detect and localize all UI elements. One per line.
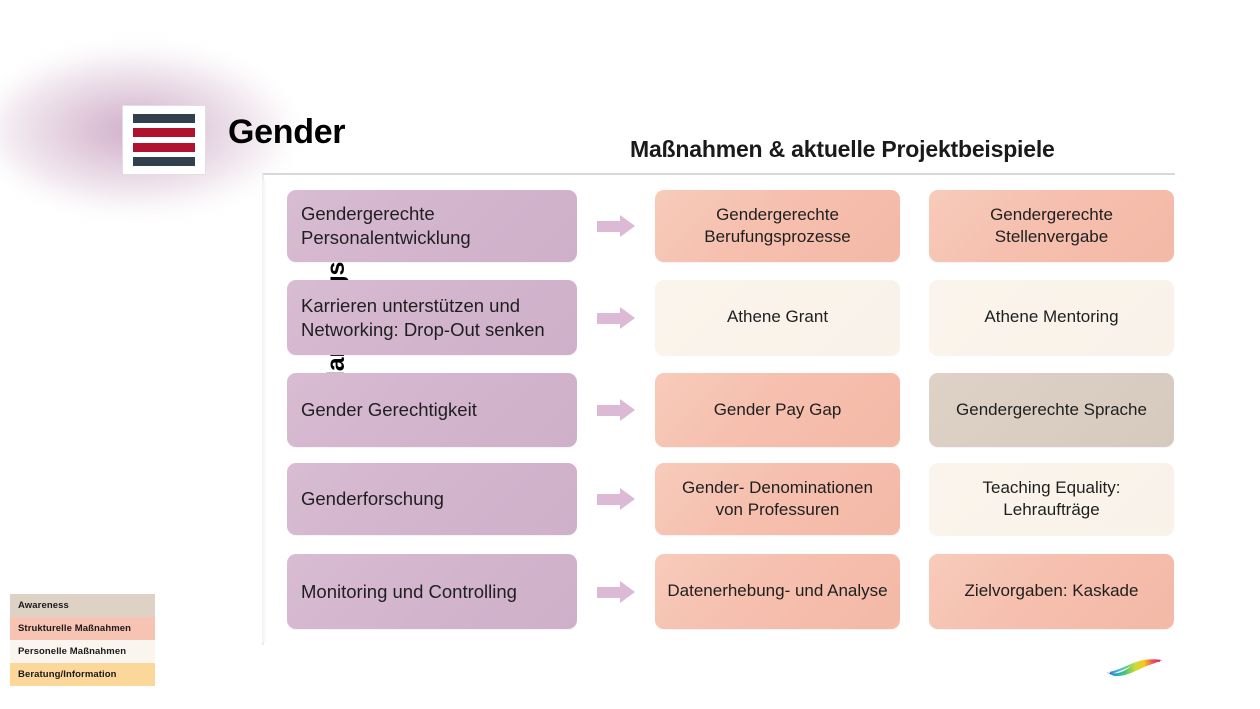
logo-bar-1 [133, 114, 195, 123]
handlungsfeld-box[interactable]: Gender Gerechtigkeit [287, 373, 577, 447]
handlungsfeld-label: Monitoring und Controlling [301, 580, 517, 604]
arrow-shaft [597, 587, 621, 598]
handlungsfeld-label: Karrieren unterstützen und Networking: D… [301, 294, 563, 341]
handlungsfeld-box[interactable]: Karrieren unterstützen und Networking: D… [287, 280, 577, 355]
arrow-head [620, 399, 635, 421]
measure-box[interactable]: Athene Mentoring [929, 280, 1174, 355]
legend-item: Personelle Maßnahmen [10, 640, 155, 663]
handlungsfeld-label: Gendergerechte Personalentwicklung [301, 202, 563, 249]
arrow-shaft [597, 405, 621, 416]
arrow-cell [577, 373, 655, 447]
column-gap [900, 280, 929, 355]
column-gap [900, 554, 929, 629]
arrow-cell [577, 463, 655, 535]
column-gap [900, 463, 929, 535]
measure-box[interactable]: Gendergerechte Stellenvergabe [929, 190, 1174, 262]
matrix-row: Karrieren unterstützen und Networking: D… [287, 280, 1175, 355]
matrix-row: Gendergerechte PersonalentwicklungGender… [287, 190, 1175, 262]
measure-label: Gendergerechte Berufungsprozesse [667, 204, 888, 248]
measure-box[interactable]: Zielvorgaben: Kaskade [929, 554, 1174, 629]
handlungsfeld-label: Gender Gerechtigkeit [301, 398, 477, 422]
measure-label: Gender- Denominationen von Professuren [667, 477, 888, 521]
arrow-right-icon [597, 307, 635, 329]
measure-box[interactable]: Datenerhebung- und Analyse [655, 554, 900, 629]
measure-label: Gendergerechte Sprache [956, 399, 1147, 421]
arrow-head [620, 215, 635, 237]
column-gap [900, 373, 929, 447]
university-bars-logo [122, 105, 206, 175]
arrow-shaft [597, 221, 621, 232]
measures-column-title: Maßnahmen & aktuelle Projektbeispiele [630, 136, 1055, 163]
arrow-right-icon [597, 581, 635, 603]
arrow-head [620, 581, 635, 603]
measure-box[interactable]: Teaching Equality: Lehraufträge [929, 463, 1174, 535]
matrix-row: Monitoring und ControllingDatenerhebung-… [287, 554, 1175, 629]
measure-label: Gendergerechte Stellenvergabe [941, 204, 1162, 248]
arrow-right-icon [597, 399, 635, 421]
logo-bar-3 [133, 143, 195, 152]
measure-box[interactable]: Gendergerechte Sprache [929, 373, 1174, 447]
measure-label: Gender Pay Gap [714, 399, 842, 421]
measure-box[interactable]: Gender Pay Gap [655, 373, 900, 447]
measure-box[interactable]: Athene Grant [655, 280, 900, 355]
column-gap [900, 190, 929, 262]
arrow-shaft [597, 313, 621, 324]
legend-item: Strukturelle Maßnahmen [10, 617, 155, 640]
matrix-grid: Gendergerechte PersonalentwicklungGender… [287, 190, 1175, 640]
measure-label: Zielvorgaben: Kaskade [965, 580, 1139, 602]
panel-left-rule [262, 180, 266, 642]
measure-label: Teaching Equality: Lehraufträge [941, 477, 1162, 521]
matrix-row: Gender GerechtigkeitGender Pay GapGender… [287, 373, 1175, 447]
arrow-head [620, 307, 635, 329]
logo-bar-4 [133, 157, 195, 166]
measure-label: Athene Mentoring [984, 306, 1118, 328]
handlungsfeld-label: Genderforschung [301, 487, 444, 511]
legend-label: Strukturelle Maßnahmen [18, 623, 131, 634]
legend-label: Beratung/Information [18, 669, 117, 680]
arrow-cell [577, 280, 655, 355]
handlungsfeld-box[interactable]: Gendergerechte Personalentwicklung [287, 190, 577, 262]
legend-label: Personelle Maßnahmen [18, 646, 126, 657]
handlungsfeld-box[interactable]: Monitoring und Controlling [287, 554, 577, 629]
legend-label: Awareness [18, 600, 69, 611]
measure-label: Datenerhebung- und Analyse [667, 580, 887, 602]
arrow-head [620, 488, 635, 510]
arrow-cell [577, 190, 655, 262]
measure-box[interactable]: Gender- Denominationen von Professuren [655, 463, 900, 535]
handlungsfeld-box[interactable]: Genderforschung [287, 463, 577, 535]
arrow-shaft [597, 494, 621, 505]
legend-item: Awareness [10, 594, 155, 617]
logo-bar-2 [133, 128, 195, 137]
legend-item: Beratung/Information [10, 663, 155, 686]
matrix-row: GenderforschungGender- Denominationen vo… [287, 463, 1175, 535]
measure-label: Athene Grant [727, 306, 828, 328]
measure-box[interactable]: Gendergerechte Berufungsprozesse [655, 190, 900, 262]
arrow-cell [577, 554, 655, 629]
arrow-right-icon [597, 215, 635, 237]
arrow-right-icon [597, 488, 635, 510]
legend: AwarenessStrukturelle MaßnahmenPersonell… [10, 594, 155, 686]
rainbow-swoosh-logo [1104, 655, 1166, 681]
